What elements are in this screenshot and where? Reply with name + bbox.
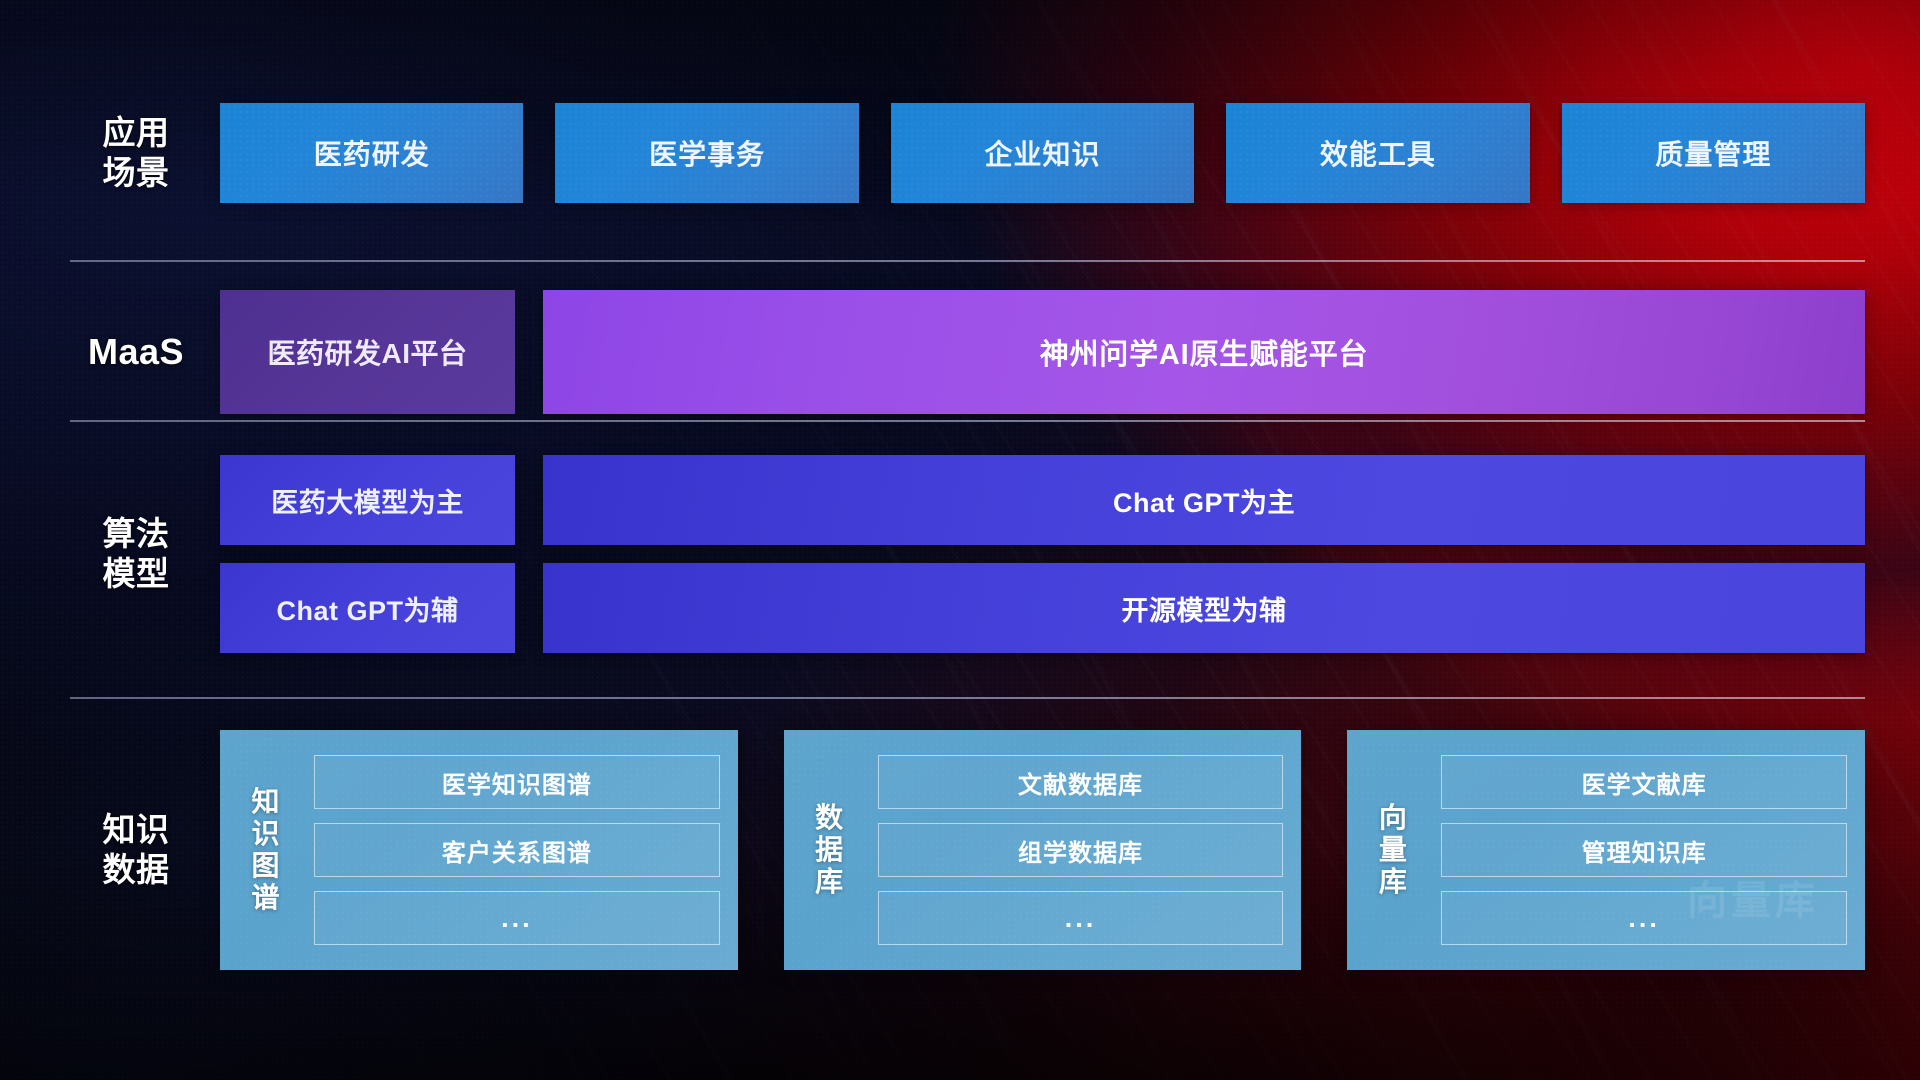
knowledge-card-title: 数据库 xyxy=(802,802,858,898)
algo-box-chatgpt-secondary[interactable]: Chat GPT为辅 xyxy=(220,563,515,653)
knowledge-item-label: 客户关系图谱 xyxy=(442,833,592,868)
knowledge-item-label: ... xyxy=(1628,903,1660,934)
algorithm-box-list: 医药大模型为主 Chat GPT为主 Chat GPT为辅 开源模型为辅 xyxy=(220,455,1865,653)
knowledge-card-title: 向量库 xyxy=(1365,802,1421,898)
slide-canvas: 应用 场景 医药研发 医学事务 企业知识 效能工具 xyxy=(0,0,1920,1080)
app-box-enterprise-knowledge[interactable]: 企业知识 xyxy=(891,103,1194,203)
algo-box-open-source-secondary[interactable]: 开源模型为辅 xyxy=(543,563,1865,653)
app-box-label: 质量管理 xyxy=(1655,133,1771,173)
app-box-drug-rnd[interactable]: 医药研发 xyxy=(220,103,523,203)
knowledge-card-title: 知识图谱 xyxy=(238,786,294,914)
knowledge-item-label: ... xyxy=(501,903,533,934)
maas-box-label: 医药研发AI平台 xyxy=(267,332,467,372)
algo-box-pharma-llm-primary[interactable]: 医药大模型为主 xyxy=(220,455,515,545)
knowledge-item-label: 文献数据库 xyxy=(1018,765,1143,800)
knowledge-item-label: 组学数据库 xyxy=(1018,833,1143,868)
algo-box-chatgpt-primary[interactable]: Chat GPT为主 xyxy=(543,455,1865,545)
row-maas: MaaS 医药研发AI平台 神州问学AI原生赋能平台 xyxy=(70,290,1865,414)
row-body-knowledge: 知识图谱 医学知识图谱 客户关系图谱 ... xyxy=(220,730,1865,970)
row-label-applications: 应用 场景 xyxy=(70,113,202,194)
app-box-efficiency-tools[interactable]: 效能工具 xyxy=(1226,103,1529,203)
row-body-maas: 医药研发AI平台 神州问学AI原生赋能平台 xyxy=(220,290,1865,414)
application-box-list: 医药研发 医学事务 企业知识 效能工具 质量管理 xyxy=(220,103,1865,203)
divider-maas-algorithm xyxy=(70,420,1865,422)
knowledge-item-omics-database[interactable]: 组学数据库 xyxy=(878,823,1284,877)
row-label-knowledge: 知识 数据 xyxy=(70,810,202,891)
knowledge-item-label: 医学文献库 xyxy=(1582,765,1707,800)
knowledge-item-label: 医学知识图谱 xyxy=(442,765,592,800)
knowledge-item-list: 医学知识图谱 客户关系图谱 ... xyxy=(314,755,720,945)
knowledge-card-knowledge-graph[interactable]: 知识图谱 医学知识图谱 客户关系图谱 ... xyxy=(220,730,738,970)
row-knowledge: 知识 数据 知识图谱 医学知识图谱 客户关系图谱 xyxy=(70,730,1865,970)
divider-applications-maas xyxy=(70,260,1865,262)
knowledge-item-management-knowledge-base[interactable]: 管理知识库 xyxy=(1441,823,1847,877)
knowledge-item-more[interactable]: ... xyxy=(1441,891,1847,945)
row-body-algorithm: 医药大模型为主 Chat GPT为主 Chat GPT为辅 开源模型为辅 xyxy=(220,455,1865,653)
row-algorithm: 算法 模型 医药大模型为主 Chat GPT为主 Chat GPT为辅 xyxy=(70,455,1865,653)
divider-algorithm-knowledge xyxy=(70,697,1865,699)
maas-box-drug-rnd-ai-platform[interactable]: 医药研发AI平台 xyxy=(220,290,515,414)
knowledge-item-list: 文献数据库 组学数据库 ... xyxy=(878,755,1284,945)
algo-box-label: Chat GPT为主 xyxy=(1113,481,1295,520)
algorithm-line-secondary: Chat GPT为辅 开源模型为辅 xyxy=(220,563,1865,653)
algorithm-line-primary: 医药大模型为主 Chat GPT为主 xyxy=(220,455,1865,545)
app-box-label: 效能工具 xyxy=(1320,133,1436,173)
row-body-applications: 医药研发 医学事务 企业知识 效能工具 质量管理 xyxy=(220,103,1865,203)
knowledge-item-label: 管理知识库 xyxy=(1582,833,1707,868)
knowledge-item-medical-literature-store[interactable]: 医学文献库 xyxy=(1441,755,1847,809)
app-box-medical-affairs[interactable]: 医学事务 xyxy=(555,103,858,203)
knowledge-item-customer-relation-graph[interactable]: 客户关系图谱 xyxy=(314,823,720,877)
algo-box-label: 开源模型为辅 xyxy=(1122,589,1287,628)
maas-box-shenzhou-wenxue-platform[interactable]: 神州问学AI原生赋能平台 xyxy=(543,290,1865,414)
algo-box-label: 医药大模型为主 xyxy=(271,481,464,520)
knowledge-card-database[interactable]: 数据库 文献数据库 组学数据库 ... xyxy=(784,730,1302,970)
knowledge-card-vector-store[interactable]: 向量库 医学文献库 管理知识库 ... 向量库 xyxy=(1347,730,1865,970)
app-box-label: 企业知识 xyxy=(985,133,1101,173)
knowledge-item-medical-knowledge-graph[interactable]: 医学知识图谱 xyxy=(314,755,720,809)
row-applications: 应用 场景 医药研发 医学事务 企业知识 效能工具 xyxy=(70,103,1865,203)
row-label-maas: MaaS xyxy=(70,330,202,374)
row-label-algorithm: 算法 模型 xyxy=(70,514,202,595)
app-box-label: 医学事务 xyxy=(649,133,765,173)
knowledge-item-more[interactable]: ... xyxy=(314,891,720,945)
algo-box-label: Chat GPT为辅 xyxy=(276,589,458,628)
knowledge-item-more[interactable]: ... xyxy=(878,891,1284,945)
knowledge-item-label: ... xyxy=(1065,903,1097,934)
app-box-quality-management[interactable]: 质量管理 xyxy=(1562,103,1865,203)
maas-box-label: 神州问学AI原生赋能平台 xyxy=(1040,331,1369,373)
app-box-label: 医药研发 xyxy=(314,133,430,173)
knowledge-item-literature-database[interactable]: 文献数据库 xyxy=(878,755,1284,809)
knowledge-item-list: 医学文献库 管理知识库 ... xyxy=(1441,755,1847,945)
knowledge-card-list: 知识图谱 医学知识图谱 客户关系图谱 ... xyxy=(220,730,1865,970)
architecture-diagram: 应用 场景 医药研发 医学事务 企业知识 效能工具 xyxy=(0,0,1920,1080)
